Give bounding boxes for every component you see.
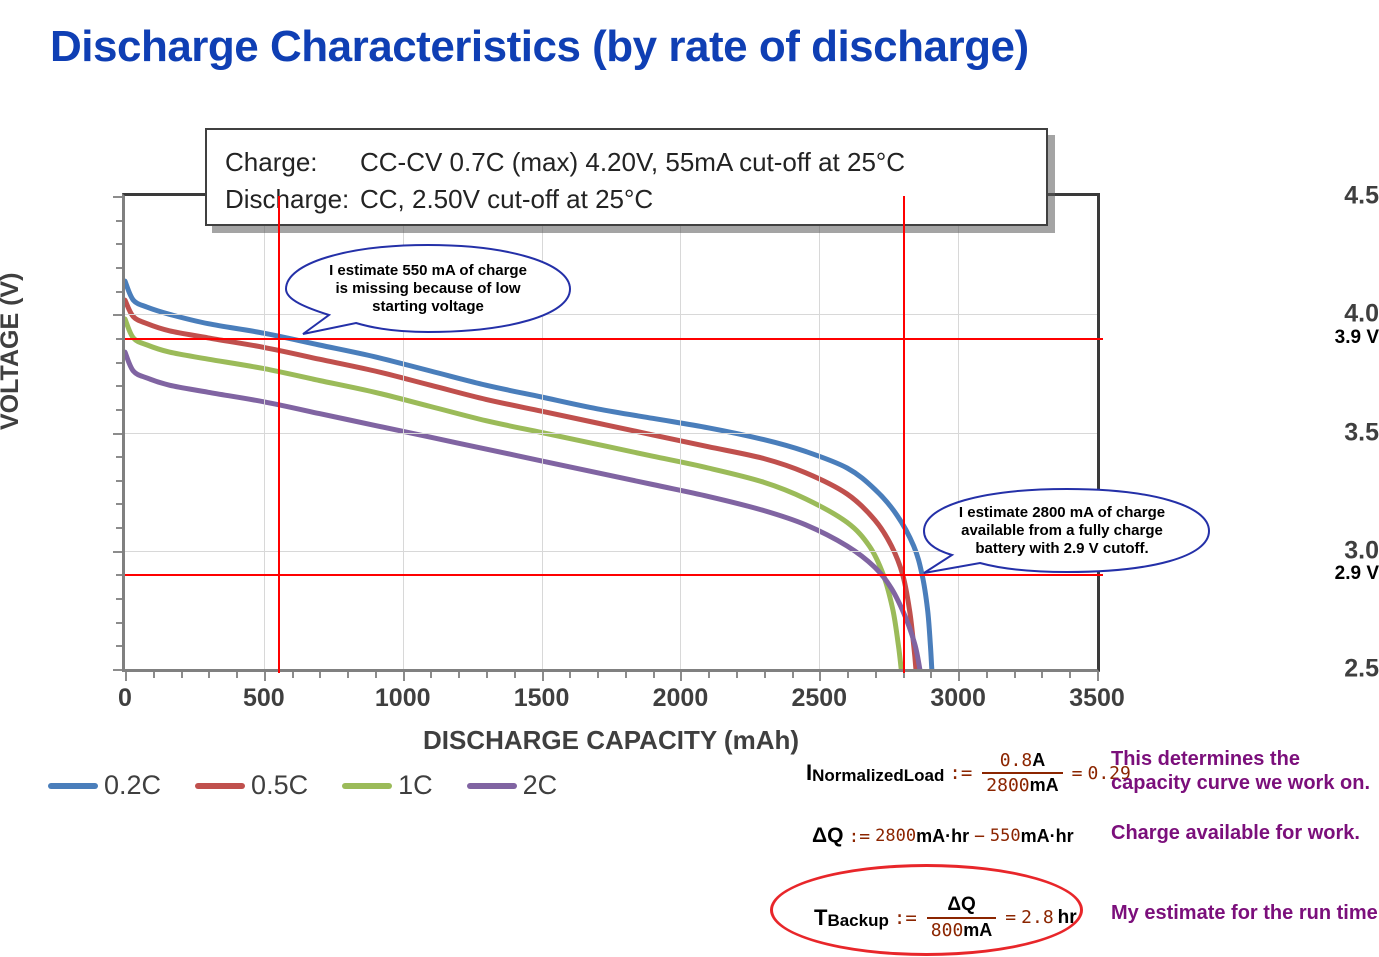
formula1-den-unit: mA	[1030, 775, 1059, 795]
bubble-text-550: I estimate 550 mA of charge is missing b…	[283, 243, 573, 335]
x-tick-mark-minor	[764, 672, 766, 678]
gridline-vertical	[819, 196, 820, 669]
x-tick-mark-minor	[458, 672, 460, 678]
formula2-var: ΔQ	[812, 824, 843, 848]
x-tick-mark-minor	[708, 672, 710, 678]
bubble-line: is missing because of low	[335, 280, 520, 298]
x-tick-mark-minor	[847, 672, 849, 678]
info-value-charge: CC-CV 0.7C (max) 4.20V, 55mA cut-off at …	[360, 144, 1046, 181]
callout-bubble-550mA: I estimate 550 mA of charge is missing b…	[283, 243, 573, 335]
x-tick-mark-minor	[292, 672, 294, 678]
series-line-2C	[125, 352, 920, 669]
x-tick-mark	[542, 672, 544, 681]
formula2-term1-value: 2800	[875, 826, 916, 846]
x-tick-mark	[958, 672, 960, 681]
info-row-charge: Charge: CC-CV 0.7C (max) 4.20V, 55mA cut…	[225, 144, 1046, 181]
formula1-num-unit: A	[1032, 750, 1045, 770]
legend-label-2: 1C	[398, 770, 433, 801]
legend-swatch-0	[48, 783, 98, 789]
callout-bubble-2800mA: I estimate 2800 mA of charge available f…	[912, 487, 1212, 575]
x-tick-mark-minor	[930, 672, 932, 678]
legend-label-0: 0.2C	[104, 770, 161, 801]
x-tick-mark	[819, 672, 821, 681]
y-tick-label: 4.5	[1269, 182, 1379, 211]
bubble-line: available from a fully charge	[961, 522, 1163, 540]
x-tick-mark-minor	[1014, 672, 1016, 678]
y-tick-mark	[113, 196, 122, 198]
formula2-term2-unit: mA·hr	[1021, 826, 1074, 847]
series-line-1C	[125, 319, 901, 669]
reference-line-vertical	[278, 196, 280, 673]
x-tick-mark-minor	[319, 672, 321, 678]
y-tick-mark	[113, 314, 122, 316]
x-tick-mark	[125, 672, 127, 681]
x-tick-label: 0	[65, 684, 185, 713]
x-tick-label: 2000	[620, 684, 740, 713]
reference-line-vertical	[903, 196, 905, 673]
legend-label-1: 0.5C	[251, 770, 308, 801]
formula1-num-value: 0.8	[1000, 750, 1033, 771]
formula2-assign: :=	[848, 826, 870, 847]
x-tick-label: 1500	[482, 684, 602, 713]
gridline-vertical	[958, 196, 959, 669]
info-key-discharge: Discharge:	[225, 181, 360, 218]
x-tick-mark	[680, 672, 682, 681]
x-tick-mark-minor	[1069, 672, 1071, 678]
x-tick-mark-minor	[653, 672, 655, 678]
gridline-vertical	[680, 196, 681, 669]
x-tick-mark-minor	[1041, 672, 1043, 678]
reference-line-horizontal	[125, 574, 1103, 576]
legend-swatch-2	[342, 783, 392, 789]
legend-item-2: 1C	[342, 770, 433, 801]
highlight-ellipse	[770, 864, 1083, 956]
formula1-denominator: 2800mA	[982, 772, 1062, 796]
y-tick-label: 2.5	[1269, 655, 1379, 684]
y-tick-mark	[113, 669, 122, 671]
gridline-horizontal	[125, 314, 1097, 315]
x-tick-label: 3000	[898, 684, 1018, 713]
x-tick-mark-minor	[736, 672, 738, 678]
x-tick-mark-minor	[236, 672, 238, 678]
reference-line-horizontal	[125, 338, 1103, 340]
x-tick-mark-minor	[181, 672, 183, 678]
bubble-line: I estimate 2800 mA of charge	[959, 504, 1165, 522]
x-tick-label: 500	[204, 684, 324, 713]
y-tick-label: 3.5	[1269, 418, 1379, 447]
y-tick-mark	[113, 551, 122, 553]
formula1-subscript: NormalizedLoad	[812, 766, 944, 786]
legend-swatch-1	[195, 783, 245, 789]
y-axis-label: VOLTAGE (V)	[0, 273, 25, 430]
x-tick-mark-minor	[486, 672, 488, 678]
x-tick-mark-minor	[375, 672, 377, 678]
x-tick-label: 3500	[1037, 684, 1157, 713]
reference-label: 2.9 V	[1269, 563, 1379, 585]
x-tick-mark-minor	[514, 672, 516, 678]
chart-legend: 0.2C 0.5C 1C 2C	[48, 770, 591, 801]
info-key-charge: Charge:	[225, 144, 360, 181]
x-tick-mark-minor	[625, 672, 627, 678]
formula1-note: This determines the capacity curve we wo…	[1111, 748, 1376, 795]
info-row-discharge: Discharge: CC, 2.50V cut-off at 25°C	[225, 181, 1046, 218]
gridline-vertical	[264, 196, 265, 669]
bubble-line: I estimate 550 mA of charge	[329, 262, 527, 280]
formula1-den-value: 2800	[986, 775, 1029, 796]
x-tick-mark-minor	[792, 672, 794, 678]
series-line-0.5C	[125, 300, 916, 669]
formula2-note: Charge available for work.	[1111, 822, 1379, 846]
y-tick-mark	[113, 433, 122, 435]
formula1-assign: :=	[949, 762, 972, 784]
legend-label-3: 2C	[523, 770, 558, 801]
bubble-text-2800: I estimate 2800 mA of charge available f…	[912, 487, 1212, 575]
formula3-note: My estimate for the run time	[1111, 902, 1379, 926]
x-tick-mark-minor	[875, 672, 877, 678]
x-tick-mark-minor	[569, 672, 571, 678]
formula2-minus: −	[974, 826, 985, 847]
x-tick-mark-minor	[430, 672, 432, 678]
y-tick-label: 3.0	[1269, 536, 1379, 565]
plot-area	[122, 193, 1100, 672]
gridline-horizontal	[125, 433, 1097, 434]
legend-item-3: 2C	[467, 770, 558, 801]
y-tick-label: 4.0	[1269, 300, 1379, 329]
x-tick-mark-minor	[347, 672, 349, 678]
x-tick-label: 2500	[759, 684, 879, 713]
legend-item-0: 0.2C	[48, 770, 161, 801]
formula2-term2-value: 550	[990, 826, 1021, 846]
reference-label: 3.9 V	[1269, 327, 1379, 349]
x-tick-label: 1000	[343, 684, 463, 713]
formula2-term1-unit: mA·hr	[916, 826, 969, 847]
formula1-numerator: 0.8A	[996, 750, 1050, 772]
legend-item-1: 0.5C	[195, 770, 308, 801]
info-value-discharge: CC, 2.50V cut-off at 25°C	[360, 181, 1046, 218]
x-tick-mark-minor	[153, 672, 155, 678]
x-tick-mark-minor	[597, 672, 599, 678]
formula1-equals: =	[1072, 763, 1083, 784]
x-tick-mark-minor	[986, 672, 988, 678]
x-tick-mark-minor	[208, 672, 210, 678]
bubble-line: battery with 2.9 V cutoff.	[975, 540, 1148, 558]
conditions-info-box: Charge: CC-CV 0.7C (max) 4.20V, 55mA cut…	[205, 128, 1048, 226]
x-tick-mark	[1097, 672, 1099, 681]
bubble-line: starting voltage	[372, 298, 484, 316]
legend-swatch-3	[467, 783, 517, 789]
formula-delta-q: ΔQ := 2800 mA·hr − 550 mA·hr	[812, 824, 1074, 848]
formula-normalized-load: INormalizedLoad := 0.8A 2800mA = 0.29	[806, 750, 1131, 796]
formula1-fraction: 0.8A 2800mA	[982, 750, 1062, 796]
x-tick-mark	[403, 672, 405, 681]
x-tick-mark	[264, 672, 266, 681]
